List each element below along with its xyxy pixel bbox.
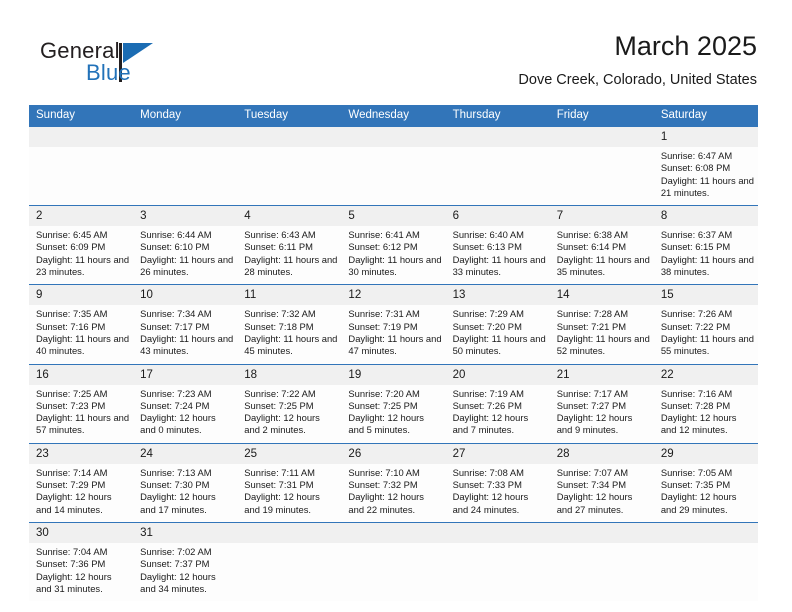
calendar-day-cell[interactable]: 3Sunrise: 6:44 AMSunset: 6:10 PMDaylight… <box>133 206 237 285</box>
day-number: 10 <box>133 285 237 305</box>
day-number <box>29 127 133 147</box>
day-details: Sunrise: 6:43 AMSunset: 6:11 PMDaylight:… <box>237 226 341 284</box>
title-block: March 2025 Dove Creek, Colorado, United … <box>518 30 757 90</box>
sunrise-text: Sunrise: 7:34 AM <box>140 308 233 320</box>
calendar-day-cell-empty <box>133 127 237 206</box>
sunrise-text: Sunrise: 7:26 AM <box>661 308 754 320</box>
day-number: 31 <box>133 523 237 543</box>
day-number: 1 <box>654 127 758 147</box>
day-details: Sunrise: 7:16 AMSunset: 7:28 PMDaylight:… <box>654 385 758 443</box>
day-number: 29 <box>654 444 758 464</box>
day-details: Sunrise: 7:02 AMSunset: 7:37 PMDaylight:… <box>133 543 237 601</box>
calendar-week-row: 1Sunrise: 6:47 AMSunset: 6:08 PMDaylight… <box>29 127 758 206</box>
day-number <box>237 127 341 147</box>
day-number: 21 <box>550 365 654 385</box>
daylight-text: Daylight: 11 hours and 30 minutes. <box>348 254 441 279</box>
daylight-text: Daylight: 12 hours and 2 minutes. <box>244 412 337 437</box>
sunset-text: Sunset: 7:20 PM <box>453 321 546 333</box>
calendar-day-cell[interactable]: 12Sunrise: 7:31 AMSunset: 7:19 PMDayligh… <box>341 285 445 364</box>
day-details: Sunrise: 6:38 AMSunset: 6:14 PMDaylight:… <box>550 226 654 284</box>
daylight-text: Daylight: 12 hours and 22 minutes. <box>348 491 441 516</box>
daylight-text: Daylight: 11 hours and 21 minutes. <box>661 175 754 200</box>
daylight-text: Daylight: 12 hours and 24 minutes. <box>453 491 546 516</box>
daylight-text: Daylight: 11 hours and 38 minutes. <box>661 254 754 279</box>
calendar-day-cell[interactable]: 28Sunrise: 7:07 AMSunset: 7:34 PMDayligh… <box>550 443 654 522</box>
calendar-day-cell[interactable]: 20Sunrise: 7:19 AMSunset: 7:26 PMDayligh… <box>446 364 550 443</box>
calendar-day-cell[interactable]: 24Sunrise: 7:13 AMSunset: 7:30 PMDayligh… <box>133 443 237 522</box>
day-number <box>446 523 550 543</box>
daylight-text: Daylight: 11 hours and 28 minutes. <box>244 254 337 279</box>
sunset-text: Sunset: 7:30 PM <box>140 479 233 491</box>
day-number: 22 <box>654 365 758 385</box>
sunrise-text: Sunrise: 7:16 AM <box>661 388 754 400</box>
day-number: 7 <box>550 206 654 226</box>
day-number: 19 <box>341 365 445 385</box>
day-number <box>654 523 758 543</box>
sunrise-text: Sunrise: 7:20 AM <box>348 388 441 400</box>
day-details: Sunrise: 7:11 AMSunset: 7:31 PMDaylight:… <box>237 464 341 522</box>
sunrise-text: Sunrise: 7:08 AM <box>453 467 546 479</box>
calendar-day-cell[interactable]: 27Sunrise: 7:08 AMSunset: 7:33 PMDayligh… <box>446 443 550 522</box>
sunset-text: Sunset: 7:24 PM <box>140 400 233 412</box>
calendar-header-row: Sunday Monday Tuesday Wednesday Thursday… <box>29 105 758 127</box>
day-number: 12 <box>341 285 445 305</box>
day-number: 27 <box>446 444 550 464</box>
sunrise-text: Sunrise: 7:05 AM <box>661 467 754 479</box>
sunset-text: Sunset: 7:27 PM <box>557 400 650 412</box>
sunset-text: Sunset: 7:26 PM <box>453 400 546 412</box>
day-number <box>341 523 445 543</box>
sunrise-text: Sunrise: 7:07 AM <box>557 467 650 479</box>
sunset-text: Sunset: 6:15 PM <box>661 241 754 253</box>
sunset-text: Sunset: 6:09 PM <box>36 241 129 253</box>
daylight-text: Daylight: 11 hours and 52 minutes. <box>557 333 650 358</box>
sunrise-text: Sunrise: 7:19 AM <box>453 388 546 400</box>
day-details: Sunrise: 6:44 AMSunset: 6:10 PMDaylight:… <box>133 226 237 284</box>
day-number: 9 <box>29 285 133 305</box>
calendar-day-cell-empty <box>237 522 341 601</box>
calendar-day-cell-empty <box>446 522 550 601</box>
sunset-text: Sunset: 7:25 PM <box>348 400 441 412</box>
day-number: 18 <box>237 365 341 385</box>
sunrise-text: Sunrise: 7:22 AM <box>244 388 337 400</box>
calendar-week-row: 2Sunrise: 6:45 AMSunset: 6:09 PMDaylight… <box>29 206 758 285</box>
calendar-day-cell[interactable]: 4Sunrise: 6:43 AMSunset: 6:11 PMDaylight… <box>237 206 341 285</box>
day-details: Sunrise: 7:07 AMSunset: 7:34 PMDaylight:… <box>550 464 654 522</box>
sunrise-text: Sunrise: 7:11 AM <box>244 467 337 479</box>
sunset-text: Sunset: 7:23 PM <box>36 400 129 412</box>
page-header: General Blue March 2025 Dove Creek, Colo… <box>0 0 792 104</box>
daylight-text: Daylight: 11 hours and 33 minutes. <box>453 254 546 279</box>
day-number <box>341 127 445 147</box>
day-number: 11 <box>237 285 341 305</box>
sunset-text: Sunset: 7:35 PM <box>661 479 754 491</box>
general-blue-logo[interactable]: General Blue <box>34 38 234 94</box>
day-details: Sunrise: 7:08 AMSunset: 7:33 PMDaylight:… <box>446 464 550 522</box>
sunrise-text: Sunrise: 6:45 AM <box>36 229 129 241</box>
calendar-day-cell[interactable]: 2Sunrise: 6:45 AMSunset: 6:09 PMDaylight… <box>29 206 133 285</box>
calendar-body: 1Sunrise: 6:47 AMSunset: 6:08 PMDaylight… <box>29 127 758 601</box>
sunset-text: Sunset: 7:36 PM <box>36 558 129 570</box>
calendar-day-cell[interactable]: 11Sunrise: 7:32 AMSunset: 7:18 PMDayligh… <box>237 285 341 364</box>
day-details: Sunrise: 7:13 AMSunset: 7:30 PMDaylight:… <box>133 464 237 522</box>
sunset-text: Sunset: 7:31 PM <box>244 479 337 491</box>
daylight-text: Daylight: 11 hours and 40 minutes. <box>36 333 129 358</box>
calendar-day-cell-empty <box>550 522 654 601</box>
sunset-text: Sunset: 6:11 PM <box>244 241 337 253</box>
calendar-day-cell-empty <box>237 127 341 206</box>
day-number: 3 <box>133 206 237 226</box>
day-number: 6 <box>446 206 550 226</box>
daylight-text: Daylight: 11 hours and 47 minutes. <box>348 333 441 358</box>
weekday-header-monday: Monday <box>133 105 237 127</box>
sunrise-sunset-calendar: Sunday Monday Tuesday Wednesday Thursday… <box>29 105 758 601</box>
sunrise-text: Sunrise: 7:35 AM <box>36 308 129 320</box>
day-details: Sunrise: 7:19 AMSunset: 7:26 PMDaylight:… <box>446 385 550 443</box>
daylight-text: Daylight: 12 hours and 0 minutes. <box>140 412 233 437</box>
calendar-day-cell[interactable]: 8Sunrise: 6:37 AMSunset: 6:15 PMDaylight… <box>654 206 758 285</box>
daylight-text: Daylight: 12 hours and 19 minutes. <box>244 491 337 516</box>
weekday-header-sunday: Sunday <box>29 105 133 127</box>
day-details: Sunrise: 7:10 AMSunset: 7:32 PMDaylight:… <box>341 464 445 522</box>
calendar-day-cell[interactable]: 18Sunrise: 7:22 AMSunset: 7:25 PMDayligh… <box>237 364 341 443</box>
sunrise-text: Sunrise: 7:02 AM <box>140 546 233 558</box>
sunset-text: Sunset: 6:12 PM <box>348 241 441 253</box>
daylight-text: Daylight: 11 hours and 43 minutes. <box>140 333 233 358</box>
day-number <box>133 127 237 147</box>
calendar-day-cell[interactable]: 17Sunrise: 7:23 AMSunset: 7:24 PMDayligh… <box>133 364 237 443</box>
calendar-day-cell[interactable]: 22Sunrise: 7:16 AMSunset: 7:28 PMDayligh… <box>654 364 758 443</box>
day-details: Sunrise: 7:25 AMSunset: 7:23 PMDaylight:… <box>29 385 133 443</box>
daylight-text: Daylight: 12 hours and 9 minutes. <box>557 412 650 437</box>
daylight-text: Daylight: 12 hours and 17 minutes. <box>140 491 233 516</box>
day-number: 5 <box>341 206 445 226</box>
sunset-text: Sunset: 7:29 PM <box>36 479 129 491</box>
calendar-day-cell[interactable]: 23Sunrise: 7:14 AMSunset: 7:29 PMDayligh… <box>29 443 133 522</box>
day-number: 17 <box>133 365 237 385</box>
calendar-day-cell[interactable]: 14Sunrise: 7:28 AMSunset: 7:21 PMDayligh… <box>550 285 654 364</box>
day-details: Sunrise: 7:23 AMSunset: 7:24 PMDaylight:… <box>133 385 237 443</box>
sunset-text: Sunset: 7:33 PM <box>453 479 546 491</box>
calendar-week-row: 16Sunrise: 7:25 AMSunset: 7:23 PMDayligh… <box>29 364 758 443</box>
sunrise-text: Sunrise: 6:44 AM <box>140 229 233 241</box>
daylight-text: Daylight: 11 hours and 23 minutes. <box>36 254 129 279</box>
daylight-text: Daylight: 12 hours and 12 minutes. <box>661 412 754 437</box>
sunset-text: Sunset: 7:17 PM <box>140 321 233 333</box>
sunset-text: Sunset: 7:34 PM <box>557 479 650 491</box>
sunrise-text: Sunrise: 6:37 AM <box>661 229 754 241</box>
day-number: 30 <box>29 523 133 543</box>
sunset-text: Sunset: 7:28 PM <box>661 400 754 412</box>
day-details: Sunrise: 6:37 AMSunset: 6:15 PMDaylight:… <box>654 226 758 284</box>
calendar-day-cell[interactable]: 13Sunrise: 7:29 AMSunset: 7:20 PMDayligh… <box>446 285 550 364</box>
daylight-text: Daylight: 12 hours and 7 minutes. <box>453 412 546 437</box>
day-details: Sunrise: 7:17 AMSunset: 7:27 PMDaylight:… <box>550 385 654 443</box>
day-details: Sunrise: 7:29 AMSunset: 7:20 PMDaylight:… <box>446 305 550 363</box>
calendar-day-cell[interactable]: 9Sunrise: 7:35 AMSunset: 7:16 PMDaylight… <box>29 285 133 364</box>
day-number: 16 <box>29 365 133 385</box>
day-details: Sunrise: 6:45 AMSunset: 6:09 PMDaylight:… <box>29 226 133 284</box>
sunset-text: Sunset: 7:16 PM <box>36 321 129 333</box>
sunrise-text: Sunrise: 7:25 AM <box>36 388 129 400</box>
day-number: 28 <box>550 444 654 464</box>
calendar-day-cell[interactable]: 30Sunrise: 7:04 AMSunset: 7:36 PMDayligh… <box>29 522 133 601</box>
calendar-page: General Blue March 2025 Dove Creek, Colo… <box>0 0 792 612</box>
calendar-day-cell-empty <box>29 127 133 206</box>
sunrise-text: Sunrise: 7:32 AM <box>244 308 337 320</box>
day-number: 20 <box>446 365 550 385</box>
calendar-day-cell[interactable]: 19Sunrise: 7:20 AMSunset: 7:25 PMDayligh… <box>341 364 445 443</box>
sunset-text: Sunset: 6:10 PM <box>140 241 233 253</box>
calendar-day-cell-empty <box>341 127 445 206</box>
sunset-text: Sunset: 7:22 PM <box>661 321 754 333</box>
logo-text-blue: Blue <box>86 60 131 86</box>
day-number: 23 <box>29 444 133 464</box>
sunset-text: Sunset: 7:18 PM <box>244 321 337 333</box>
calendar-week-row: 23Sunrise: 7:14 AMSunset: 7:29 PMDayligh… <box>29 443 758 522</box>
calendar-day-cell[interactable]: 10Sunrise: 7:34 AMSunset: 7:17 PMDayligh… <box>133 285 237 364</box>
daylight-text: Daylight: 11 hours and 57 minutes. <box>36 412 129 437</box>
day-number: 24 <box>133 444 237 464</box>
sunrise-text: Sunrise: 6:47 AM <box>661 150 754 162</box>
day-details: Sunrise: 7:22 AMSunset: 7:25 PMDaylight:… <box>237 385 341 443</box>
day-details: Sunrise: 7:31 AMSunset: 7:19 PMDaylight:… <box>341 305 445 363</box>
sunrise-text: Sunrise: 6:38 AM <box>557 229 650 241</box>
sunrise-text: Sunrise: 6:40 AM <box>453 229 546 241</box>
daylight-text: Daylight: 12 hours and 29 minutes. <box>661 491 754 516</box>
day-number: 15 <box>654 285 758 305</box>
sunrise-text: Sunrise: 7:17 AM <box>557 388 650 400</box>
day-number: 8 <box>654 206 758 226</box>
daylight-text: Daylight: 12 hours and 31 minutes. <box>36 571 129 596</box>
sunset-text: Sunset: 6:08 PM <box>661 162 754 174</box>
sunset-text: Sunset: 6:14 PM <box>557 241 650 253</box>
sunrise-text: Sunrise: 7:04 AM <box>36 546 129 558</box>
day-details: Sunrise: 6:47 AMSunset: 6:08 PMDaylight:… <box>654 147 758 205</box>
day-number <box>550 127 654 147</box>
calendar-day-cell[interactable]: 29Sunrise: 7:05 AMSunset: 7:35 PMDayligh… <box>654 443 758 522</box>
day-details: Sunrise: 7:35 AMSunset: 7:16 PMDaylight:… <box>29 305 133 363</box>
page-title: March 2025 <box>518 30 757 62</box>
calendar-day-cell[interactable]: 7Sunrise: 6:38 AMSunset: 6:14 PMDaylight… <box>550 206 654 285</box>
calendar-day-cell[interactable]: 25Sunrise: 7:11 AMSunset: 7:31 PMDayligh… <box>237 443 341 522</box>
weekday-header-thursday: Thursday <box>446 105 550 127</box>
calendar-day-cell[interactable]: 26Sunrise: 7:10 AMSunset: 7:32 PMDayligh… <box>341 443 445 522</box>
calendar-day-cell[interactable]: 1Sunrise: 6:47 AMSunset: 6:08 PMDaylight… <box>654 127 758 206</box>
sunrise-text: Sunrise: 7:29 AM <box>453 308 546 320</box>
calendar-week-row: 30Sunrise: 7:04 AMSunset: 7:36 PMDayligh… <box>29 522 758 601</box>
day-details: Sunrise: 7:32 AMSunset: 7:18 PMDaylight:… <box>237 305 341 363</box>
day-number: 14 <box>550 285 654 305</box>
sunrise-text: Sunrise: 6:43 AM <box>244 229 337 241</box>
calendar-day-cell-empty <box>341 522 445 601</box>
day-number: 13 <box>446 285 550 305</box>
daylight-text: Daylight: 11 hours and 55 minutes. <box>661 333 754 358</box>
day-number <box>446 127 550 147</box>
calendar-day-cell[interactable]: 31Sunrise: 7:02 AMSunset: 7:37 PMDayligh… <box>133 522 237 601</box>
sunset-text: Sunset: 6:13 PM <box>453 241 546 253</box>
sunset-text: Sunset: 7:19 PM <box>348 321 441 333</box>
weekday-header-friday: Friday <box>550 105 654 127</box>
day-details: Sunrise: 6:41 AMSunset: 6:12 PMDaylight:… <box>341 226 445 284</box>
page-location: Dove Creek, Colorado, United States <box>518 70 757 90</box>
daylight-text: Daylight: 11 hours and 50 minutes. <box>453 333 546 358</box>
daylight-text: Daylight: 12 hours and 14 minutes. <box>36 491 129 516</box>
day-details: Sunrise: 7:04 AMSunset: 7:36 PMDaylight:… <box>29 543 133 601</box>
calendar-day-cell-empty <box>654 522 758 601</box>
sunrise-text: Sunrise: 7:13 AM <box>140 467 233 479</box>
calendar-day-cell-empty <box>446 127 550 206</box>
day-details: Sunrise: 7:14 AMSunset: 7:29 PMDaylight:… <box>29 464 133 522</box>
daylight-text: Daylight: 12 hours and 27 minutes. <box>557 491 650 516</box>
weekday-header-wednesday: Wednesday <box>341 105 445 127</box>
day-details: Sunrise: 7:34 AMSunset: 7:17 PMDaylight:… <box>133 305 237 363</box>
calendar-day-cell-empty <box>550 127 654 206</box>
sunset-text: Sunset: 7:21 PM <box>557 321 650 333</box>
calendar-day-cell[interactable]: 5Sunrise: 6:41 AMSunset: 6:12 PMDaylight… <box>341 206 445 285</box>
day-details: Sunrise: 6:40 AMSunset: 6:13 PMDaylight:… <box>446 226 550 284</box>
day-details: Sunrise: 7:05 AMSunset: 7:35 PMDaylight:… <box>654 464 758 522</box>
day-number: 4 <box>237 206 341 226</box>
sunset-text: Sunset: 7:37 PM <box>140 558 233 570</box>
sunrise-text: Sunrise: 7:10 AM <box>348 467 441 479</box>
sunset-text: Sunset: 7:25 PM <box>244 400 337 412</box>
daylight-text: Daylight: 11 hours and 45 minutes. <box>244 333 337 358</box>
day-number <box>237 523 341 543</box>
weekday-header-tuesday: Tuesday <box>237 105 341 127</box>
day-number: 25 <box>237 444 341 464</box>
calendar-day-cell[interactable]: 15Sunrise: 7:26 AMSunset: 7:22 PMDayligh… <box>654 285 758 364</box>
calendar-week-row: 9Sunrise: 7:35 AMSunset: 7:16 PMDaylight… <box>29 285 758 364</box>
sunrise-text: Sunrise: 7:23 AM <box>140 388 233 400</box>
day-number <box>550 523 654 543</box>
day-details: Sunrise: 7:26 AMSunset: 7:22 PMDaylight:… <box>654 305 758 363</box>
sunrise-text: Sunrise: 6:41 AM <box>348 229 441 241</box>
daylight-text: Daylight: 12 hours and 5 minutes. <box>348 412 441 437</box>
daylight-text: Daylight: 12 hours and 34 minutes. <box>140 571 233 596</box>
sunset-text: Sunset: 7:32 PM <box>348 479 441 491</box>
sunrise-text: Sunrise: 7:31 AM <box>348 308 441 320</box>
weekday-header-saturday: Saturday <box>654 105 758 127</box>
calendar-day-cell[interactable]: 6Sunrise: 6:40 AMSunset: 6:13 PMDaylight… <box>446 206 550 285</box>
day-number: 2 <box>29 206 133 226</box>
calendar-day-cell[interactable]: 16Sunrise: 7:25 AMSunset: 7:23 PMDayligh… <box>29 364 133 443</box>
daylight-text: Daylight: 11 hours and 26 minutes. <box>140 254 233 279</box>
calendar-day-cell[interactable]: 21Sunrise: 7:17 AMSunset: 7:27 PMDayligh… <box>550 364 654 443</box>
sunrise-text: Sunrise: 7:14 AM <box>36 467 129 479</box>
daylight-text: Daylight: 11 hours and 35 minutes. <box>557 254 650 279</box>
day-number: 26 <box>341 444 445 464</box>
sunrise-text: Sunrise: 7:28 AM <box>557 308 650 320</box>
day-details: Sunrise: 7:28 AMSunset: 7:21 PMDaylight:… <box>550 305 654 363</box>
day-details: Sunrise: 7:20 AMSunset: 7:25 PMDaylight:… <box>341 385 445 443</box>
